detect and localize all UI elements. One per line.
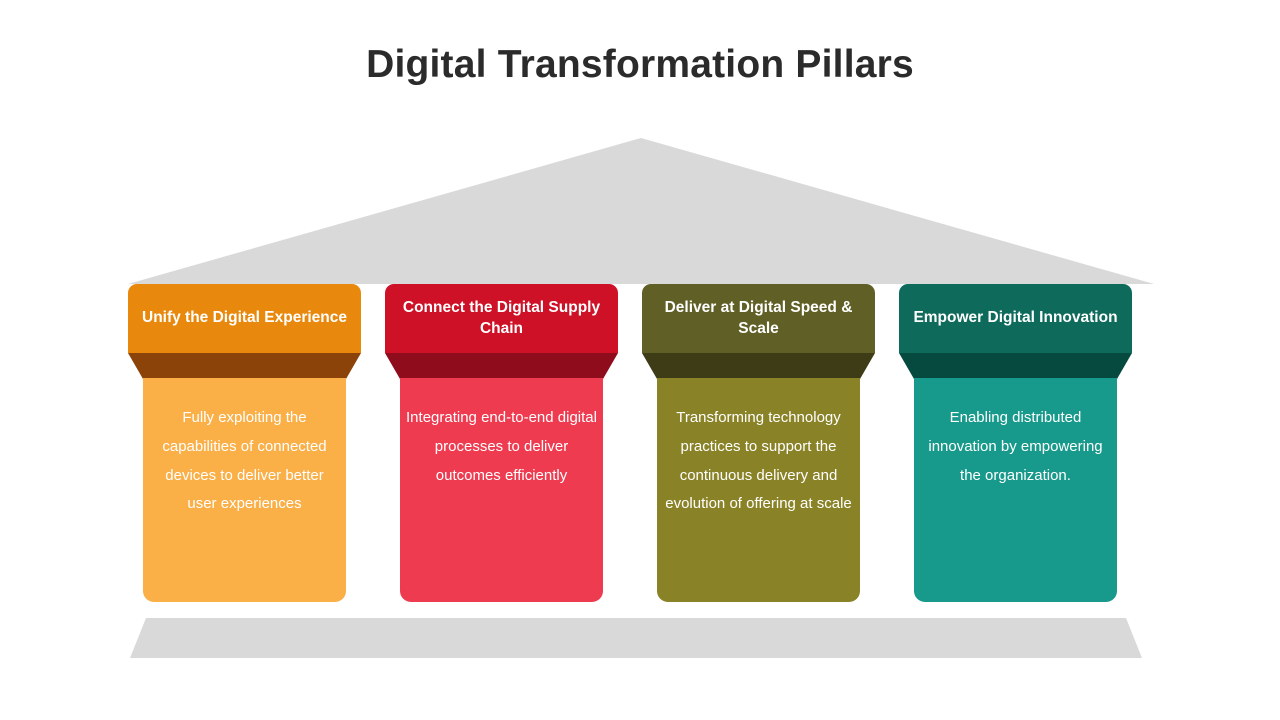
pillar-body-4[interactable]: Enabling distributed innovation by empow… [914, 378, 1117, 602]
pillar-heading-1: Unify the Digital Experience [142, 308, 347, 328]
pillar-header-1[interactable]: Unify the Digital Experience [128, 284, 361, 353]
capital-shape [899, 353, 1132, 379]
pillar-capital-3 [642, 353, 875, 379]
capital-shape [642, 353, 875, 379]
page-title: Digital Transformation Pillars [0, 44, 1280, 87]
capital-shape [128, 353, 361, 379]
pillar-header-4[interactable]: Empower Digital Innovation [899, 284, 1132, 353]
pillar-description-2: Integrating end-to-end digital processes… [406, 404, 597, 490]
pillar-body-1[interactable]: Fully exploiting the capabilities of con… [143, 378, 346, 602]
pillar-capital-4 [899, 353, 1132, 379]
pillar-capital-1 [128, 353, 361, 379]
roof-shape [128, 138, 1154, 284]
base-shape [130, 618, 1142, 658]
pillar-heading-4: Empower Digital Innovation [913, 308, 1117, 328]
pediment-triangle [128, 138, 1154, 284]
pillar-body-2[interactable]: Integrating end-to-end digital processes… [400, 378, 603, 602]
pillar-heading-2: Connect the Digital Supply Chain [393, 298, 610, 339]
pillar-header-2[interactable]: Connect the Digital Supply Chain [385, 284, 618, 353]
pillar-header-3[interactable]: Deliver at Digital Speed & Scale [642, 284, 875, 353]
pillar-description-3: Transforming technology practices to sup… [663, 404, 854, 519]
pillar-heading-3: Deliver at Digital Speed & Scale [650, 298, 867, 339]
capital-shape [385, 353, 618, 379]
pillar-capital-2 [385, 353, 618, 379]
pillar-body-3[interactable]: Transforming technology practices to sup… [657, 378, 860, 602]
pillar-description-4: Enabling distributed innovation by empow… [920, 404, 1111, 490]
base-plinth [130, 618, 1142, 658]
pillar-description-1: Fully exploiting the capabilities of con… [149, 404, 340, 519]
slide-canvas: Digital Transformation Pillars Unify the… [0, 0, 1280, 720]
